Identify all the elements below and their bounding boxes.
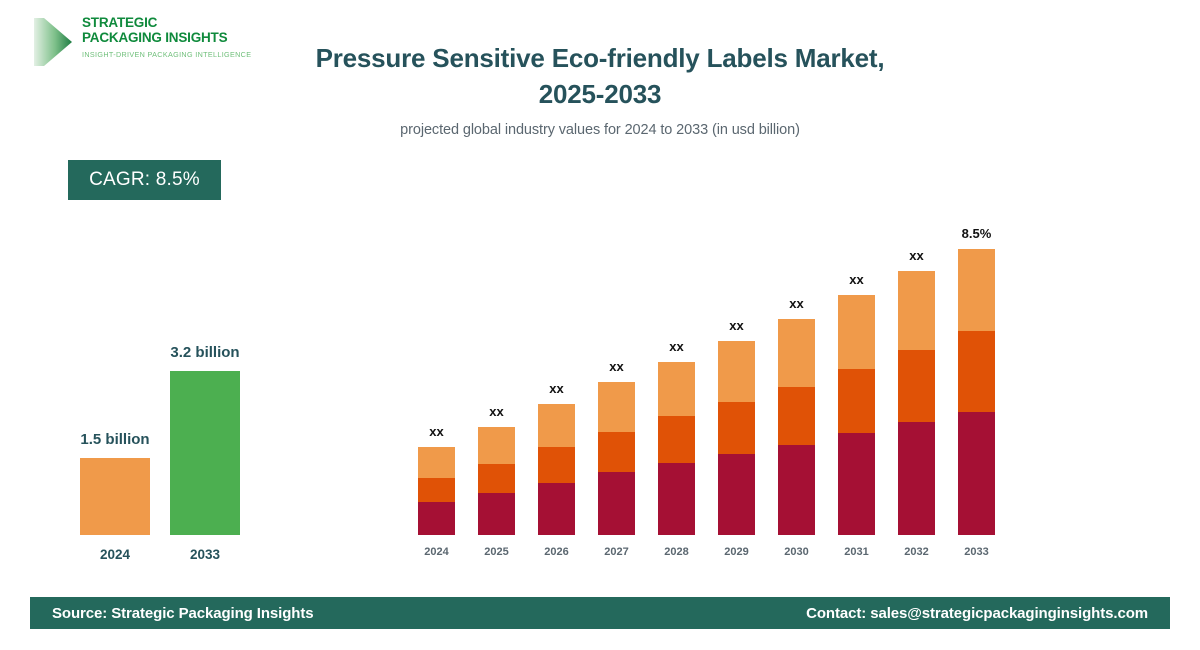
- stacked-bar: [598, 382, 635, 535]
- stacked-bar-segment: [478, 493, 515, 535]
- stacked-bar-top-label: xx: [467, 404, 527, 419]
- stacked-bar-year-label: 2029: [707, 546, 767, 558]
- stacked-bar-segment: [538, 483, 575, 535]
- stacked-bar-segment: [598, 382, 635, 432]
- stacked-bar-top-label: xx: [767, 296, 827, 311]
- stacked-bar-top-label: 8.5%: [947, 226, 1007, 241]
- title-block: Pressure Sensitive Eco-friendly Labels M…: [250, 40, 950, 138]
- comparison-year-label: 2033: [170, 547, 240, 562]
- footer-bar: Source: Strategic Packaging Insights Con…: [30, 597, 1170, 629]
- stacked-bar-segment: [598, 472, 635, 535]
- stacked-bar-segment: [538, 404, 575, 447]
- stacked-bar-segment: [718, 402, 755, 454]
- page-title-line1: Pressure Sensitive Eco-friendly Labels M…: [250, 40, 950, 76]
- comparison-bar: [170, 371, 240, 535]
- stacked-bar-year-label: 2027: [587, 546, 647, 558]
- stacked-bar-segment: [838, 295, 875, 369]
- stacked-bar-year-label: 2030: [767, 546, 827, 558]
- stacked-bar: [418, 447, 455, 535]
- comparison-year-label: 2024: [80, 547, 150, 562]
- stacked-bar-group: 8.5%2033: [958, 190, 995, 560]
- stacked-bar-segment: [538, 447, 575, 483]
- brand-name-line2: PACKAGING INSIGHTS: [82, 31, 242, 46]
- stacked-bar-segment: [958, 331, 995, 412]
- stacked-bar-year-label: 2032: [887, 546, 947, 558]
- stacked-bar-segment: [958, 412, 995, 535]
- stacked-bar: [658, 362, 695, 535]
- stacked-bar-segment: [778, 319, 815, 387]
- stacked-bar-segment: [658, 463, 695, 535]
- page-subtitle: projected global industry values for 202…: [250, 122, 950, 138]
- stacked-bar-segment: [718, 454, 755, 535]
- stacked-bar-segment: [718, 341, 755, 402]
- stacked-bar-group: xx2029: [718, 190, 755, 560]
- brand-logo: STRATEGIC PACKAGING INSIGHTS INSIGHT-DRI…: [30, 14, 240, 76]
- footer-contact: Contact: sales@strategicpackaginginsight…: [806, 605, 1148, 622]
- stacked-bar-group: xx2027: [598, 190, 635, 560]
- market-size-comparison-chart: 1.5 billion20243.2 billion2033: [40, 300, 300, 570]
- stacked-bar-year-label: 2025: [467, 546, 527, 558]
- stacked-bar-year-label: 2033: [947, 546, 1007, 558]
- stacked-bar-top-label: xx: [647, 339, 707, 354]
- brand-name-line1: STRATEGIC: [82, 16, 242, 31]
- stacked-bar-group: xx2024: [418, 190, 455, 560]
- stacked-bar-year-label: 2024: [407, 546, 467, 558]
- stacked-bar-segment: [418, 478, 455, 502]
- brand-tagline: INSIGHT-DRIVEN PACKAGING INTELLIGENCE: [82, 50, 242, 59]
- stacked-bar: [958, 249, 995, 535]
- stacked-bar-segment: [838, 433, 875, 535]
- green-chevron-icon: [30, 16, 76, 68]
- stacked-bar-segment: [898, 350, 935, 422]
- stacked-bar-top-label: xx: [887, 248, 947, 263]
- stacked-bar-year-label: 2031: [827, 546, 887, 558]
- stacked-bar-year-label: 2028: [647, 546, 707, 558]
- stacked-bar-segment: [958, 249, 995, 331]
- stacked-bar-group: xx2030: [778, 190, 815, 560]
- stacked-bar: [478, 427, 515, 535]
- stacked-bar-segment: [838, 369, 875, 434]
- footer-source: Source: Strategic Packaging Insights: [52, 605, 313, 622]
- brand-wordmark: STRATEGIC PACKAGING INSIGHTS INSIGHT-DRI…: [82, 16, 242, 59]
- comparison-column: 1.5 billion2024: [80, 300, 150, 570]
- page-title: Pressure Sensitive Eco-friendly Labels M…: [250, 40, 950, 112]
- segment-forecast-stacked-chart: xx2024xx2025xx2026xx2027xx2028xx2029xx20…: [400, 190, 1020, 560]
- stacked-bar-segment: [478, 427, 515, 464]
- stacked-bar-group: xx2032: [898, 190, 935, 560]
- stacked-bar-segment: [418, 502, 455, 535]
- stacked-bar-top-label: xx: [587, 359, 647, 374]
- stacked-bar-group: xx2028: [658, 190, 695, 560]
- stacked-bar-group: xx2031: [838, 190, 875, 560]
- stacked-bar-top-label: xx: [707, 318, 767, 333]
- stacked-bar-top-label: xx: [527, 381, 587, 396]
- stacked-bar-segment: [898, 422, 935, 535]
- stacked-bar: [838, 295, 875, 535]
- cagr-badge: CAGR: 8.5%: [68, 160, 221, 200]
- stacked-bar: [778, 319, 815, 535]
- stacked-bar-year-label: 2026: [527, 546, 587, 558]
- comparison-bar: [80, 458, 150, 535]
- stacked-bar-group: xx2025: [478, 190, 515, 560]
- stacked-bar-segment: [898, 271, 935, 350]
- stacked-bar-segment: [418, 447, 455, 478]
- stacked-bar-segment: [658, 362, 695, 416]
- stacked-bar: [538, 404, 575, 535]
- stacked-bar: [718, 341, 755, 535]
- comparison-column: 3.2 billion2033: [170, 300, 240, 570]
- stacked-bar: [898, 271, 935, 535]
- stacked-bar-segment: [778, 445, 815, 535]
- stacked-bar-segment: [598, 432, 635, 473]
- stacked-bar-segment: [658, 416, 695, 463]
- stacked-bar-top-label: xx: [827, 272, 887, 287]
- stacked-bar-top-label: xx: [407, 424, 467, 439]
- stacked-bar-segment: [478, 464, 515, 493]
- page-title-line2: 2025-2033: [250, 76, 950, 112]
- stacked-bar-segment: [778, 387, 815, 445]
- comparison-value-label: 3.2 billion: [125, 344, 285, 361]
- stacked-bar-group: xx2026: [538, 190, 575, 560]
